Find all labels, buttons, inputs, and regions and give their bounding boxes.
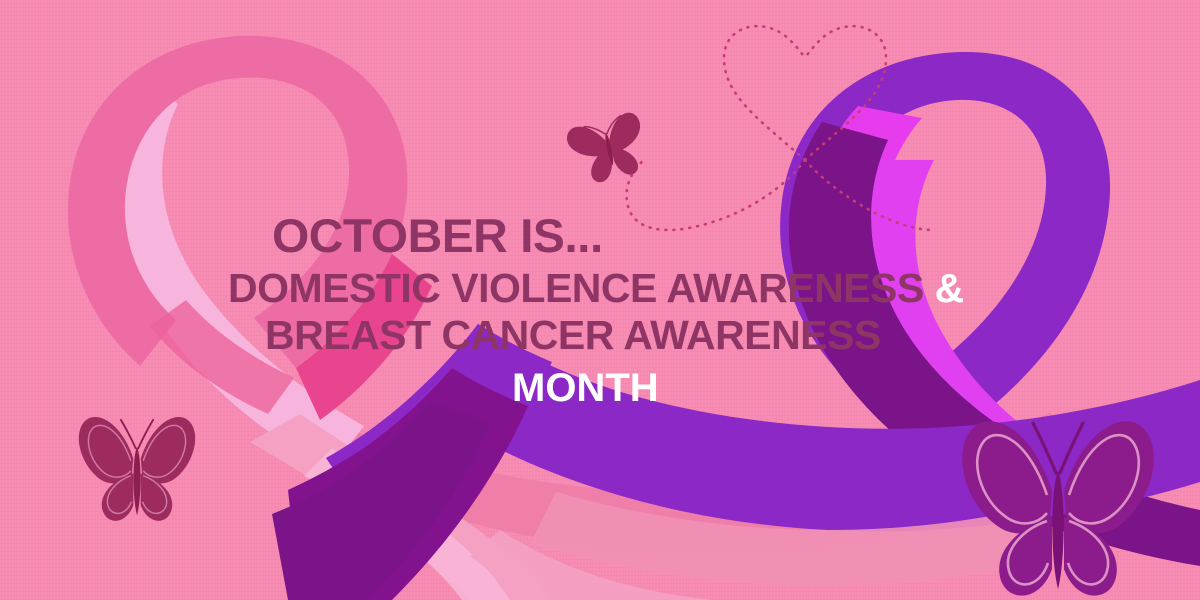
heart-trail-left-lobe — [724, 26, 805, 160]
awareness-banner: OCTOBER IS... DOMESTIC VIOLENCE AWARENES… — [0, 0, 1200, 600]
butterfly-bottom-left — [79, 417, 195, 521]
banner-artwork — [0, 0, 1200, 600]
butterfly-flying-small — [564, 111, 650, 188]
heart-trail-tail-left — [627, 158, 805, 230]
butterfly-left-body — [134, 447, 141, 515]
